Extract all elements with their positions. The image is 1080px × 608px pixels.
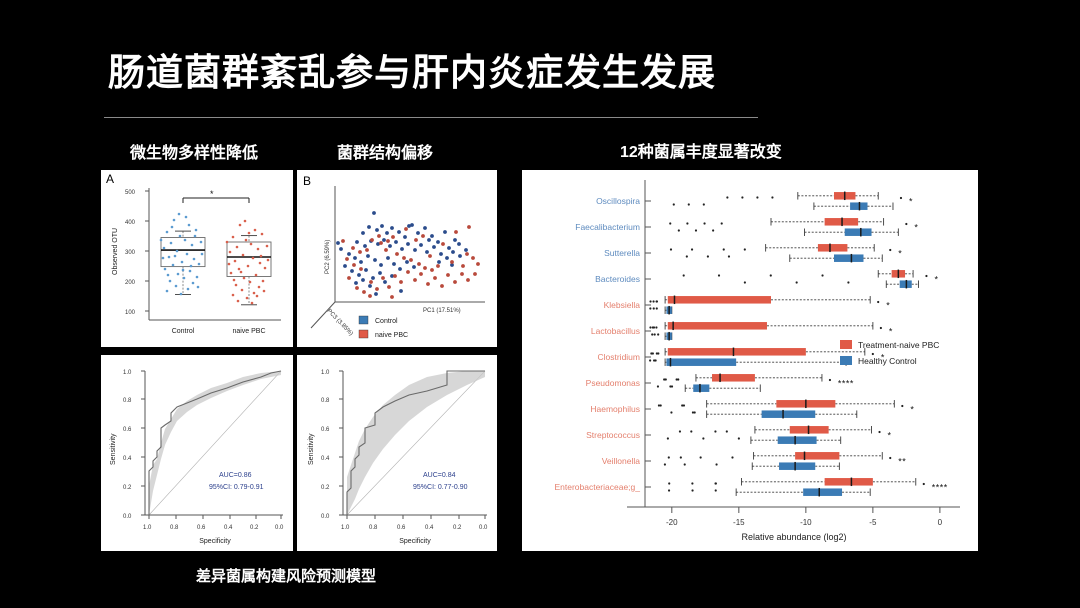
svg-text:1.0: 1.0: [321, 370, 330, 376]
panel-c-outlier: [668, 482, 670, 484]
panel-c-outlier: [889, 249, 891, 251]
panel-c-outlier: [694, 411, 696, 413]
panel-c-outlier: [723, 248, 725, 250]
panel-c-taxon-label: Clostridium: [597, 352, 640, 362]
panel-c-outlier: [657, 333, 659, 335]
panel-c-outlier: [653, 359, 655, 361]
panel-c-taxon-label: Pseudomonas: [586, 378, 640, 388]
svg-text:0.0: 0.0: [479, 525, 488, 531]
panel-c-taxon-label: Bacteroides: [595, 274, 640, 284]
panel-c-significance: ****: [932, 483, 948, 493]
svg-text:0.8: 0.8: [321, 398, 330, 404]
panel-c-outlier: [821, 274, 823, 276]
svg-text:200: 200: [125, 280, 136, 286]
panel-c-taxon-label: Oscillospira: [596, 196, 640, 206]
panel-c-legend-control: Healthy Control: [858, 356, 917, 366]
panel-c-outlier: [905, 223, 907, 225]
panel-a-xtick-control: Control: [172, 328, 195, 335]
panel-c-outlier: [721, 222, 723, 224]
roc2-ylabel: Sensitivity: [308, 433, 315, 465]
panel-c-outlier: [741, 196, 743, 198]
panel-c-outlier: [738, 437, 740, 439]
panel-c-outlier: [889, 457, 891, 459]
panel-c-xtick: -5: [869, 518, 877, 527]
panel-c-significance: *: [886, 301, 890, 311]
panel-c-outlier: [744, 281, 746, 283]
roc1-ylabel: Sensitivity: [110, 433, 117, 465]
panel-c-outlier: [878, 431, 880, 433]
figure-panel-c-abundance: -20-15-10-50 Relative abundance (log2) O…: [522, 170, 978, 551]
panel-c-outlier: [679, 430, 681, 432]
panel-c-outlier: [691, 248, 693, 250]
panel-c-row: Veillonella**: [602, 452, 907, 471]
panel-c-significance: **: [898, 457, 906, 467]
heading-abundance: 12种菌属丰度显著改变: [620, 138, 782, 162]
panel-c-outlier: [686, 222, 688, 224]
panel-b-letter: B: [303, 174, 311, 188]
panel-c-outlier: [668, 456, 670, 458]
svg-text:0.0: 0.0: [275, 525, 284, 531]
panel-b-zlabel: PC3 (3.85%): [326, 308, 354, 337]
panel-c-significance: *: [910, 405, 914, 415]
panel-c-outlier: [669, 385, 671, 387]
figure-panel-roc-2: 0.0 0.2 0.4 0.6 0.8 1.0 1.0 0.8 0.6 0.4 …: [297, 355, 497, 551]
panel-c-outlier: [796, 281, 798, 283]
roc2-y-axis: 0.0 0.2 0.4 0.6 0.8 1.0: [321, 370, 343, 520]
panel-c-outlier: [715, 489, 717, 491]
panel-c-outlier: [649, 359, 651, 361]
panel-c-outlier: [670, 411, 672, 413]
svg-text:0.4: 0.4: [224, 525, 233, 531]
svg-text:0.2: 0.2: [123, 485, 132, 491]
title-divider: [104, 117, 758, 118]
panel-c-outlier: [660, 404, 662, 406]
panel-c-outlier: [690, 430, 692, 432]
svg-text:0.2: 0.2: [321, 485, 330, 491]
panel-c-significance: *: [934, 275, 938, 285]
panel-b-legend-pbc: naive PBC: [375, 332, 408, 339]
panel-c-row: Pseudomonas****: [586, 374, 854, 393]
roc2-x-axis: 1.0 0.8 0.6 0.4 0.2 0.0: [341, 515, 488, 531]
svg-text:500: 500: [125, 190, 136, 196]
panel-c-outlier: [669, 222, 671, 224]
panel-c-outlier: [715, 482, 717, 484]
svg-text:*: *: [210, 189, 214, 199]
panel-c-outlier: [656, 352, 658, 354]
svg-text:1.0: 1.0: [123, 370, 132, 376]
svg-text:0.4: 0.4: [123, 456, 132, 462]
panel-c-outlier: [731, 456, 733, 458]
panel-c-outlier: [684, 463, 686, 465]
panel-b-legend: Control naive PBC: [359, 316, 408, 339]
panel-c-row: Streptococcus*: [586, 426, 891, 445]
heading-diversity: 微生物多样性降低: [130, 139, 258, 163]
panel-c-row: Enterobacteriaceae;g_****: [554, 478, 947, 497]
panel-c-significance: *: [909, 197, 913, 207]
panel-c-outlier: [714, 430, 716, 432]
panel-c-outlier: [726, 196, 728, 198]
panel-c-significance: *: [888, 431, 892, 441]
panel-c-outlier: [680, 456, 682, 458]
panel-c-outlier: [925, 275, 927, 277]
panel-c-outlier: [655, 326, 657, 328]
panel-c-outlier: [691, 482, 693, 484]
svg-text:0.6: 0.6: [123, 427, 132, 433]
roc1-auc-label: AUC=0.86: [219, 472, 252, 479]
panel-c-outlier: [718, 274, 720, 276]
panel-c-significance: ****: [838, 379, 854, 389]
svg-text:0.6: 0.6: [197, 525, 206, 531]
panel-c-outlier: [652, 300, 654, 302]
panel-c-outlier: [676, 378, 678, 380]
panel-c-taxon-label: Lactobacillus: [591, 326, 640, 336]
panel-c-outlier: [673, 203, 675, 205]
svg-text:0.4: 0.4: [321, 456, 330, 462]
panel-c-outlier: [691, 489, 693, 491]
panel-c-outlier: [653, 326, 655, 328]
roc1-xlabel: Specificity: [199, 538, 231, 545]
panel-c-outlier: [900, 197, 902, 199]
panel-c-outlier: [923, 483, 925, 485]
panel-c-outlier: [901, 405, 903, 407]
panel-c-outlier: [829, 379, 831, 381]
panel-c-outlier: [695, 229, 697, 231]
panel-c-outlier: [728, 255, 730, 257]
panel-c-outlier: [649, 307, 651, 309]
svg-text:0.4: 0.4: [425, 525, 434, 531]
roc2-auc-label: AUC=0.84: [423, 472, 456, 479]
panel-c-outlier: [726, 430, 728, 432]
svg-text:0.2: 0.2: [453, 525, 462, 531]
panel-b-svg: B PC2 (6.59%) PC1 (17.51%) PC3 (3.85%): [297, 170, 497, 347]
panel-c-row: Oscillospira*: [596, 192, 913, 211]
panel-c-outlier: [688, 203, 690, 205]
panel-c-outlier: [700, 456, 702, 458]
panel-c-svg: -20-15-10-50 Relative abundance (log2) O…: [522, 170, 978, 551]
roc2-xlabel: Specificity: [399, 538, 431, 545]
figure-panel-roc-1: 0.0 0.2 0.4 0.6 0.8 1.0 1.0 0.8 0.6 0.4 …: [101, 355, 293, 551]
panel-c-taxon-label: Enterobacteriaceae;g_: [554, 482, 640, 492]
panel-c-outlier: [683, 404, 685, 406]
panel-c-taxon-label: Haemophilus: [590, 404, 640, 414]
panel-c-row: Sutterella*: [604, 244, 902, 263]
panel-c-outlier: [712, 229, 714, 231]
panel-c-outlier: [649, 300, 651, 302]
panel-c-outlier: [703, 203, 705, 205]
panel-c-taxon-label: Streptococcus: [586, 430, 640, 440]
svg-text:400: 400: [125, 220, 136, 226]
panel-c-row: Faecalibacterium*: [575, 218, 918, 237]
svg-text:0.8: 0.8: [170, 525, 179, 531]
panel-c-outlier: [703, 222, 705, 224]
roc1-y-axis: 0.0 0.2 0.4 0.6 0.8 1.0: [123, 370, 145, 520]
panel-c-legend-pbc: Treatment-naive PBC: [858, 340, 939, 350]
roc2-ci-label: 95%CI: 0.77-0.90: [413, 484, 468, 491]
panel-c-outlier: [678, 229, 680, 231]
panel-c-outlier: [668, 489, 670, 491]
panel-c-outlier: [880, 327, 882, 329]
panel-b-ylabel: PC2 (6.59%): [325, 240, 331, 274]
panel-c-outlier: [756, 196, 758, 198]
svg-text:1.0: 1.0: [143, 525, 152, 531]
panel-a-points-pbc: [226, 220, 270, 305]
panel-c-outlier: [663, 378, 665, 380]
panel-c-row: Klebsiella*: [604, 296, 891, 315]
panel-a-points-control: [160, 213, 204, 296]
panel-c-outlier: [877, 301, 879, 303]
panel-c-outlier: [744, 248, 746, 250]
slide-root: 肠道菌群紊乱参与肝内炎症发生发展 微生物多样性降低 菌群结构偏移 12种菌属丰度…: [0, 0, 1080, 608]
roc2-svg: 0.0 0.2 0.4 0.6 0.8 1.0 1.0 0.8 0.6 0.4 …: [297, 355, 497, 551]
panel-c-significance: *: [914, 223, 918, 233]
panel-c-taxon-label: Veillonella: [602, 456, 641, 466]
panel-c-xtick: -15: [733, 518, 745, 527]
panel-c-row: Lactobacillus*: [591, 322, 893, 341]
panel-c-taxon-label: Klebsiella: [604, 300, 641, 310]
panel-c-significance: *: [889, 327, 893, 337]
roc1-ci-label: 95%CI: 0.79-0.91: [209, 484, 264, 491]
panel-c-outlier: [770, 274, 772, 276]
svg-text:100: 100: [125, 310, 136, 316]
svg-text:300: 300: [125, 250, 136, 256]
page-title: 肠道菌群紊乱参与肝内炎症发生发展: [108, 42, 716, 96]
svg-text:0.8: 0.8: [369, 525, 378, 531]
svg-text:0.0: 0.0: [123, 514, 132, 520]
panel-c-outlier: [670, 248, 672, 250]
panel-c-row: Bacteroides*: [595, 270, 938, 289]
panel-c-outlier: [872, 353, 874, 355]
panel-c-taxon-label: Faecalibacterium: [575, 222, 640, 232]
svg-text:0.6: 0.6: [397, 525, 406, 531]
panel-c-xtick: -10: [800, 518, 812, 527]
panel-c-row: Haemophilus*: [590, 400, 914, 419]
panel-c-outlier: [651, 333, 653, 335]
panel-c-outlier: [686, 255, 688, 257]
panel-c-legend: Treatment-naive PBC Healthy Control: [840, 340, 939, 366]
panel-c-outlier: [683, 274, 685, 276]
panel-a-svg: A 100 200 300 400 500 Observed OTU *: [101, 170, 293, 347]
panel-c-outlier: [667, 437, 669, 439]
heading-structure: 菌群结构偏移: [337, 139, 433, 163]
figure-panel-a-diversity: A 100 200 300 400 500 Observed OTU *: [101, 170, 293, 347]
panel-c-outlier: [847, 281, 849, 283]
panel-c-xtick: -20: [666, 518, 678, 527]
panel-b-xlabel: PC1 (17.51%): [423, 308, 461, 314]
panel-c-x-axis: -20-15-10-50: [666, 507, 943, 527]
panel-c-outlier: [650, 352, 652, 354]
panel-c-significance: *: [898, 249, 902, 259]
roc1-svg: 0.0 0.2 0.4 0.6 0.8 1.0 1.0 0.8 0.6 0.4 …: [101, 355, 293, 551]
panel-c-outlier: [653, 307, 655, 309]
panel-c-outlier: [654, 333, 656, 335]
svg-text:1.0: 1.0: [341, 525, 350, 531]
panel-c-outlier: [656, 307, 658, 309]
panel-c-xlabel: Relative abundance (log2): [741, 532, 846, 542]
panel-b-legend-control: Control: [375, 318, 398, 325]
svg-text:0.0: 0.0: [321, 514, 330, 520]
bottom-caption: 差异菌属构建风险预测模型: [196, 565, 376, 586]
panel-c-outlier: [702, 437, 704, 439]
panel-c-outlier: [715, 463, 717, 465]
panel-c-taxon-label: Sutterella: [604, 248, 640, 258]
svg-text:0.8: 0.8: [123, 398, 132, 404]
panel-c-outlier: [707, 255, 709, 257]
panel-c-outlier: [771, 196, 773, 198]
figure-panel-b-pcoa: B PC2 (6.59%) PC1 (17.51%) PC3 (3.85%): [297, 170, 497, 347]
panel-a-significance: *: [183, 189, 249, 203]
panel-c-outlier: [655, 300, 657, 302]
panel-a-ylabel: Observed OTU: [112, 228, 119, 275]
panel-a-y-axis: 100 200 300 400 500: [125, 190, 149, 316]
panel-c-outlier: [649, 326, 651, 328]
panel-c-outlier: [657, 385, 659, 387]
svg-text:0.6: 0.6: [321, 427, 330, 433]
panel-c-outlier: [664, 463, 666, 465]
svg-text:0.2: 0.2: [250, 525, 259, 531]
panel-c-xtick: 0: [938, 518, 943, 527]
roc1-x-axis: 1.0 0.8 0.6 0.4 0.2 0.0: [143, 515, 284, 531]
panel-a-xtick-pbc: naive PBC: [232, 328, 265, 335]
panel-a-letter: A: [106, 172, 114, 186]
